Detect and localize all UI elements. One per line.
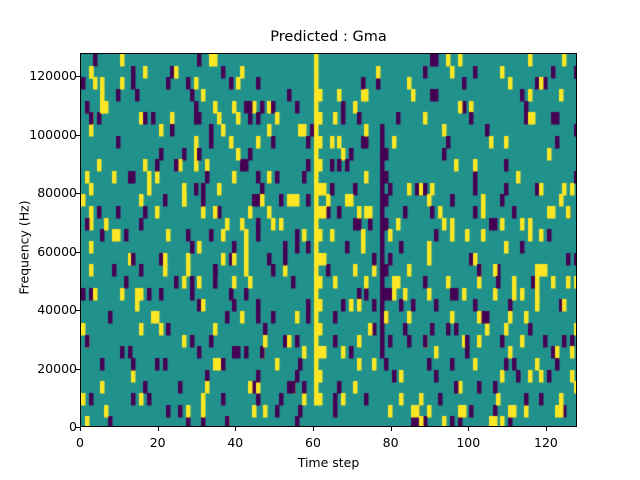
x-tick-label: 120 [516,435,576,450]
y-tick-mark [76,252,80,253]
x-tick-label: 80 [361,435,421,450]
x-tick-mark [546,427,547,431]
x-tick-mark [235,427,236,431]
x-tick-mark [313,427,314,431]
x-tick-mark [391,427,392,431]
y-tick-label: 40000 [0,302,77,317]
y-tick-mark [76,135,80,136]
y-tick-label: 100000 [0,127,77,142]
y-tick-label: 120000 [0,68,77,83]
x-tick-label: 20 [128,435,188,450]
y-tick-mark [76,76,80,77]
y-tick-mark [76,310,80,311]
chart-title: Predicted : Gma [80,28,577,46]
x-tick-label: 100 [438,435,498,450]
matplotlib-figure: Predicted : Gma Frequency (Hz) Time step… [0,0,640,480]
y-tick-label: 0 [0,419,77,434]
heatmap-plot-area [80,53,577,427]
x-tick-mark [80,427,81,431]
heatmap-image [81,54,577,427]
x-axis-label: Time step [80,455,577,470]
y-tick-mark [76,369,80,370]
y-tick-label: 60000 [0,244,77,259]
x-tick-label: 40 [205,435,265,450]
y-tick-mark [76,193,80,194]
x-tick-label: 0 [50,435,110,450]
y-tick-label: 20000 [0,361,77,376]
x-tick-mark [158,427,159,431]
y-tick-label: 80000 [0,185,77,200]
x-tick-label: 60 [283,435,343,450]
x-tick-mark [468,427,469,431]
